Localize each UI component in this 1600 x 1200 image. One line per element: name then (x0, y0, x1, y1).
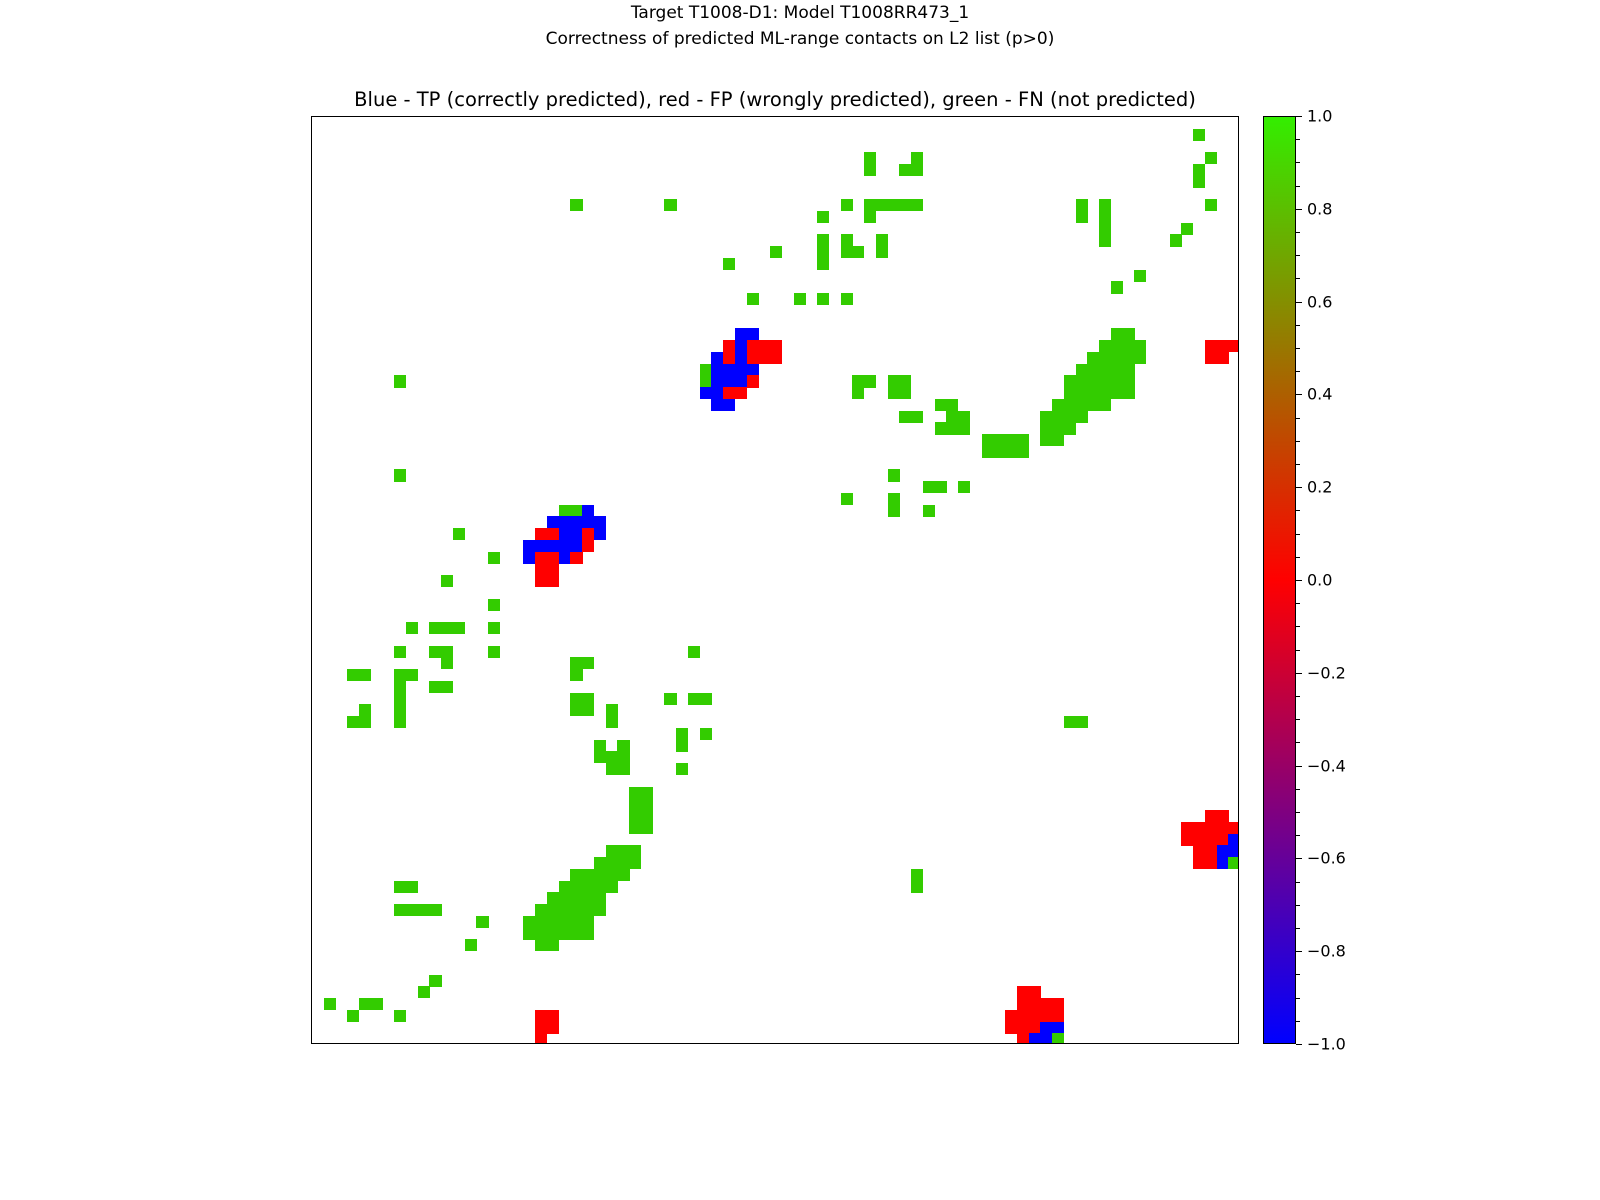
contact-cell (641, 787, 653, 799)
contact-cell (1076, 387, 1088, 399)
colorbar-minor-tick (1296, 534, 1300, 535)
contact-cell (1029, 1010, 1041, 1022)
contact-cell (1217, 834, 1229, 846)
contact-cell (476, 916, 488, 928)
contact-cell (559, 516, 571, 528)
x-tick (835, 1043, 836, 1044)
colorbar-minor-tick (1296, 162, 1300, 163)
colorbar-minor-tick (1296, 1021, 1300, 1022)
x-tick (435, 1043, 436, 1044)
contact-cell (899, 387, 911, 399)
y-tick (311, 1027, 312, 1028)
contact-cell (735, 387, 747, 399)
colorbar-tick-label: −0.6 (1307, 849, 1346, 868)
y-tick (311, 710, 312, 711)
x-tick (917, 1043, 918, 1044)
contact-cell (1205, 340, 1217, 352)
contact-cell (523, 928, 535, 940)
contact-cell (418, 986, 430, 998)
contact-cell (1123, 340, 1135, 352)
contact-cell (664, 693, 676, 705)
colorbar-tick-label: 0.2 (1307, 478, 1332, 497)
contact-cell (888, 469, 900, 481)
contact-cell (606, 704, 618, 716)
contact-cell (1111, 352, 1123, 364)
contact-cell (1017, 986, 1029, 998)
contact-cell (1087, 399, 1099, 411)
contact-cell (1111, 340, 1123, 352)
contact-cell (700, 364, 712, 376)
y-tick (311, 146, 312, 147)
contact-cell (629, 822, 641, 834)
contact-cell (1087, 375, 1099, 387)
contact-cell (1029, 998, 1041, 1010)
x-tick (823, 1043, 824, 1044)
contact-cell (406, 622, 418, 634)
contact-cell (1099, 234, 1111, 246)
x-tick (1046, 1043, 1047, 1044)
contact-cell (629, 787, 641, 799)
contact-cell (935, 422, 947, 434)
contact-cell (441, 575, 453, 587)
contact-cell (535, 939, 547, 951)
colorbar-tick (1296, 858, 1302, 859)
y-tick (311, 687, 312, 688)
contact-cell (582, 904, 594, 916)
x-tick (482, 1043, 483, 1044)
contact-cell (488, 599, 500, 611)
y-tick (311, 792, 312, 793)
figure-suptitle: Target T1008-D1: Model T1008RR473_1 Corr… (0, 0, 1600, 52)
contact-cell (1099, 223, 1111, 235)
contact-cell (735, 352, 747, 364)
contact-cell (817, 293, 829, 305)
y-tick (311, 769, 312, 770)
contact-cell (359, 669, 371, 681)
contact-cell (547, 904, 559, 916)
y-tick (311, 487, 312, 488)
y-tick (311, 569, 312, 570)
contact-cell (582, 693, 594, 705)
x-tick (377, 1043, 378, 1044)
x-tick (976, 1043, 977, 1044)
colorbar-minor-tick (1296, 789, 1300, 790)
contact-map-figure: Target T1008-D1: Model T1008RR473_1 Corr… (0, 0, 1600, 1200)
x-tick (706, 1043, 707, 1044)
y-tick (311, 992, 312, 993)
contact-cell (547, 575, 559, 587)
contact-cell (982, 434, 994, 446)
contact-cell (864, 375, 876, 387)
x-tick (1234, 1043, 1235, 1044)
contact-cell (547, 552, 559, 564)
y-tick (311, 475, 312, 476)
contact-cell (453, 622, 465, 634)
y-tick (311, 135, 312, 136)
y-tick (311, 828, 312, 829)
axes-title-legend: Blue - TP (correctly predicted), red - F… (311, 88, 1239, 111)
contact-cell (582, 869, 594, 881)
x-tick (776, 1043, 777, 1044)
x-tick (893, 1043, 894, 1044)
contact-cell (711, 352, 723, 364)
contact-cell (1099, 199, 1111, 211)
colorbar-tick-label: 1.0 (1307, 107, 1332, 126)
contact-cell (1052, 434, 1064, 446)
contact-cell (1076, 364, 1088, 376)
y-tick (311, 875, 312, 876)
y-tick (311, 910, 312, 911)
x-tick (494, 1043, 495, 1044)
contact-cell (394, 1010, 406, 1022)
x-tick (929, 1043, 930, 1044)
contact-cell (594, 528, 606, 540)
x-tick (529, 1043, 530, 1044)
x-tick (1175, 1043, 1176, 1044)
x-tick (964, 1043, 965, 1044)
contact-cell (770, 246, 782, 258)
contact-cell (617, 845, 629, 857)
y-tick (311, 123, 312, 124)
contact-cell (582, 892, 594, 904)
contact-cell (570, 704, 582, 716)
x-tick (682, 1043, 683, 1044)
x-tick (670, 1043, 671, 1044)
x-tick (565, 1043, 566, 1044)
contact-cell (1217, 845, 1229, 857)
contact-cell (535, 1022, 547, 1034)
y-tick (311, 640, 312, 641)
contact-cell (747, 364, 759, 376)
contact-cell (547, 528, 559, 540)
contact-cell (1217, 352, 1229, 364)
contact-cell (1111, 364, 1123, 376)
contact-cell (911, 199, 923, 211)
y-tick (311, 193, 312, 194)
contact-cell (582, 881, 594, 893)
colorbar-tick-label: −0.8 (1307, 942, 1346, 961)
contact-cell (664, 199, 676, 211)
contact-cell (441, 622, 453, 634)
contact-cell (888, 505, 900, 517)
contact-cell (1040, 411, 1052, 423)
contact-cell (535, 928, 547, 940)
y-tick (311, 722, 312, 723)
contact-cell (817, 246, 829, 258)
contact-cell (606, 881, 618, 893)
contact-cell (535, 904, 547, 916)
contact-cell (841, 293, 853, 305)
contact-cell (1205, 845, 1217, 857)
contact-cell (594, 857, 606, 869)
contact-cell (1228, 845, 1239, 857)
colorbar-minor-tick (1296, 510, 1300, 511)
colorbar-tick-label: 0.0 (1307, 571, 1332, 590)
colorbar-minor-tick (1296, 742, 1300, 743)
x-tick (1023, 1043, 1024, 1044)
contact-cell (899, 199, 911, 211)
y-tick (311, 604, 312, 605)
x-tick (506, 1043, 507, 1044)
y-tick (311, 299, 312, 300)
contact-cell (852, 375, 864, 387)
colorbar-tick (1296, 394, 1302, 395)
contact-cell (535, 552, 547, 564)
contact-cell (1228, 822, 1239, 834)
contact-map-plot-area[interactable]: 1357911131517192123252729313335373941434… (311, 116, 1239, 1044)
contact-cell (1111, 328, 1123, 340)
contact-cell (406, 904, 418, 916)
x-tick (764, 1043, 765, 1044)
contact-cell (711, 387, 723, 399)
contact-cell (852, 387, 864, 399)
contact-cell (582, 657, 594, 669)
contact-cell (547, 540, 559, 552)
contact-cell (688, 646, 700, 658)
x-tick (799, 1043, 800, 1044)
x-tick (1152, 1043, 1153, 1044)
contact-cell (911, 881, 923, 893)
x-tick (1211, 1043, 1212, 1044)
x-tick (1105, 1043, 1106, 1044)
contact-cell (606, 857, 618, 869)
contact-cell (617, 740, 629, 752)
x-tick (635, 1043, 636, 1044)
contact-cell (700, 728, 712, 740)
contact-cell (406, 881, 418, 893)
colorbar-tick (1296, 209, 1302, 210)
contact-cell (559, 904, 571, 916)
contact-cell (841, 493, 853, 505)
x-tick (659, 1043, 660, 1044)
contact-cell (347, 1010, 359, 1022)
contact-cell (570, 199, 582, 211)
x-tick (1164, 1043, 1165, 1044)
y-tick (311, 522, 312, 523)
x-tick (999, 1043, 1000, 1044)
contact-cell (1052, 411, 1064, 423)
contact-cell (547, 1010, 559, 1022)
y-tick (311, 957, 312, 958)
contact-cell (1076, 199, 1088, 211)
contact-cell (946, 399, 958, 411)
contact-cell (1205, 152, 1217, 164)
contact-cell (641, 810, 653, 822)
contact-cell (1017, 434, 1029, 446)
colorbar-tick-label: 0.6 (1307, 292, 1332, 311)
contact-cell (1052, 1010, 1064, 1022)
colorbar-minor-tick (1296, 232, 1300, 233)
contact-cell (1040, 1010, 1052, 1022)
x-tick (541, 1043, 542, 1044)
contact-cell (723, 387, 735, 399)
contact-cell (1217, 810, 1229, 822)
contact-cell (958, 411, 970, 423)
contact-cell (570, 516, 582, 528)
contact-cell (723, 364, 735, 376)
x-tick (882, 1043, 883, 1044)
contact-cell (1099, 399, 1111, 411)
y-tick (311, 969, 312, 970)
contact-cell (1228, 340, 1239, 352)
y-tick (311, 158, 312, 159)
contact-cell (723, 399, 735, 411)
y-tick (311, 358, 312, 359)
contact-cell (841, 246, 853, 258)
y-tick (311, 511, 312, 512)
x-tick (741, 1043, 742, 1044)
y-tick (311, 440, 312, 441)
contact-cell (429, 622, 441, 634)
contact-cell (523, 916, 535, 928)
x-tick (694, 1043, 695, 1044)
contact-cell (1005, 1022, 1017, 1034)
x-tick (424, 1043, 425, 1044)
y-tick (311, 452, 312, 453)
contact-cell (547, 916, 559, 928)
contact-cell (394, 904, 406, 916)
contact-cell (946, 411, 958, 423)
contact-cell (735, 375, 747, 387)
contact-cell (570, 657, 582, 669)
contact-cell (1205, 822, 1217, 834)
x-tick (647, 1043, 648, 1044)
x-tick (471, 1043, 472, 1044)
contact-cell (606, 763, 618, 775)
contact-cell (711, 399, 723, 411)
colorbar-minor-tick (1296, 186, 1300, 187)
contact-cell (617, 751, 629, 763)
y-tick (311, 205, 312, 206)
y-tick (311, 675, 312, 676)
x-tick (412, 1043, 413, 1044)
colorbar-minor-tick (1296, 603, 1300, 604)
y-tick (311, 558, 312, 559)
x-tick (858, 1043, 859, 1044)
y-tick (311, 863, 312, 864)
colorbar-minor-tick (1296, 139, 1300, 140)
contact-cell (876, 199, 888, 211)
contact-cell (559, 892, 571, 904)
contact-cell (1099, 340, 1111, 352)
y-tick (311, 311, 312, 312)
y-tick (311, 170, 312, 171)
contact-cell (441, 681, 453, 693)
contact-cell (935, 481, 947, 493)
contact-cell (1205, 352, 1217, 364)
contact-cell (723, 340, 735, 352)
x-tick (459, 1043, 460, 1044)
colorbar-tick (1296, 302, 1302, 303)
contact-cell (1193, 857, 1205, 869)
x-tick (1081, 1043, 1082, 1044)
contact-cell (570, 892, 582, 904)
contact-cell (606, 716, 618, 728)
contact-cell (535, 1010, 547, 1022)
contact-cell (888, 375, 900, 387)
contact-cell (1076, 411, 1088, 423)
contact-cell (570, 552, 582, 564)
contact-cell (958, 422, 970, 434)
contact-cell (359, 704, 371, 716)
contact-cell (1170, 234, 1182, 246)
y-tick (311, 264, 312, 265)
contact-cell (1134, 352, 1146, 364)
contact-cell (1123, 352, 1135, 364)
y-tick (311, 1016, 312, 1017)
contact-cell (993, 446, 1005, 458)
contact-cell (1064, 716, 1076, 728)
contact-cell (817, 258, 829, 270)
contact-cell (347, 716, 359, 728)
y-tick (311, 839, 312, 840)
x-tick (717, 1043, 718, 1044)
contact-cell (324, 998, 336, 1010)
contact-cell (1040, 422, 1052, 434)
contact-cell (594, 869, 606, 881)
contact-cell (1017, 1010, 1029, 1022)
colorbar-tick-label: 0.4 (1307, 385, 1332, 404)
contact-cell (899, 411, 911, 423)
contact-cell (359, 716, 371, 728)
colorbar[interactable]: 1.00.80.60.40.20.0−0.2−0.4−0.6−0.8−1.0 (1263, 116, 1296, 1044)
contact-cell (465, 939, 477, 951)
contact-cell (394, 704, 406, 716)
x-tick (1034, 1043, 1035, 1044)
contact-cell (570, 693, 582, 705)
y-tick (311, 898, 312, 899)
contact-cell (535, 528, 547, 540)
y-tick (311, 381, 312, 382)
colorbar-minor-tick (1296, 464, 1300, 465)
contact-cell (629, 845, 641, 857)
colorbar-minor-tick (1296, 441, 1300, 442)
colorbar-minor-tick (1296, 418, 1300, 419)
contact-cell (864, 164, 876, 176)
y-tick (311, 886, 312, 887)
contact-cell (700, 375, 712, 387)
contact-cell (629, 857, 641, 869)
x-tick (553, 1043, 554, 1044)
contact-cell (1052, 998, 1064, 1010)
contact-cell (1076, 211, 1088, 223)
x-tick (612, 1043, 613, 1044)
y-tick (311, 922, 312, 923)
contact-cell (570, 869, 582, 881)
y-tick (311, 628, 312, 629)
colorbar-minor-tick (1296, 557, 1300, 558)
contact-cell (676, 763, 688, 775)
x-tick (1187, 1043, 1188, 1044)
contact-cell (559, 552, 571, 564)
contact-cell (711, 364, 723, 376)
contact-cell (594, 516, 606, 528)
contact-cell (594, 904, 606, 916)
colorbar-tick-label: 0.8 (1307, 199, 1332, 218)
contact-cell (617, 869, 629, 881)
y-tick (311, 217, 312, 218)
contact-cell (1181, 822, 1193, 834)
contact-cell (1029, 1022, 1041, 1034)
contact-cell (911, 152, 923, 164)
contact-cell (559, 916, 571, 928)
colorbar-tick-label: −0.4 (1307, 756, 1346, 775)
contact-cell (606, 751, 618, 763)
y-tick (311, 346, 312, 347)
colorbar-tick (1296, 1044, 1302, 1045)
contact-cell (1181, 223, 1193, 235)
y-tick (311, 546, 312, 547)
